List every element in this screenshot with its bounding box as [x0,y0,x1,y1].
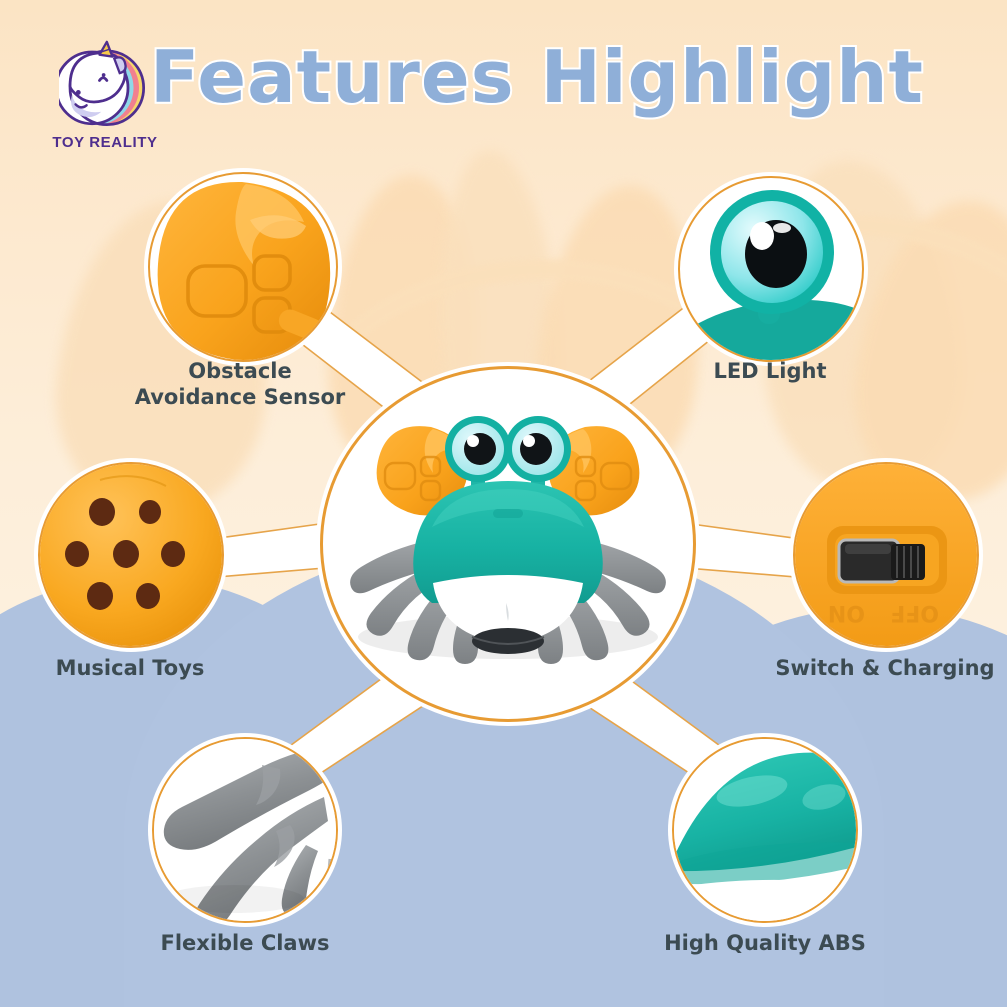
brand-logo: TOY REALITY [45,40,165,151]
orange-claw-sensor-icon [150,174,336,360]
feature-bubble-led-light[interactable] [678,176,864,362]
page-title: Features Highlight [150,38,910,116]
teal-shell-icon [674,739,856,921]
feature-bubble-high-quality-abs[interactable] [672,737,858,923]
center-product-bubble[interactable] [320,366,696,722]
switch-slider[interactable] [839,540,925,582]
infographic-poster: TOY REALITY Features Highlight [0,0,1007,1007]
feature-bubble-flexible-claws[interactable] [152,737,338,923]
speaker-holes-icon [40,464,222,646]
feature-label-musical-toys: Musical Toys [15,655,245,681]
gray-claw-icon [154,739,336,921]
feature-bubble-obstacle-avoidance-sensor[interactable] [148,172,338,362]
switch-on-label: ON [828,600,865,625]
crab-toy-icon [323,369,693,719]
feature-label-high-quality-abs: High Quality ABS [650,930,880,956]
switch-off-label: OFF [890,600,939,625]
feature-label-obstacle-avoidance-sensor: Obstacle Avoidance Sensor [95,358,385,410]
unicorn-head-icon [59,40,151,132]
teal-eye-led-icon [680,178,862,360]
feature-label-switch-and-charging: Switch & Charging [760,655,1007,681]
feature-label-flexible-claws: Flexible Claws [130,930,360,956]
feature-bubble-switch-and-charging[interactable]: OFF ON [793,462,979,648]
brand-name: TOY REALITY [45,134,165,151]
feature-label-led-light: LED Light [650,358,890,384]
toggle-switch-icon: OFF ON [795,464,977,646]
feature-bubble-musical-toys[interactable] [38,462,224,648]
